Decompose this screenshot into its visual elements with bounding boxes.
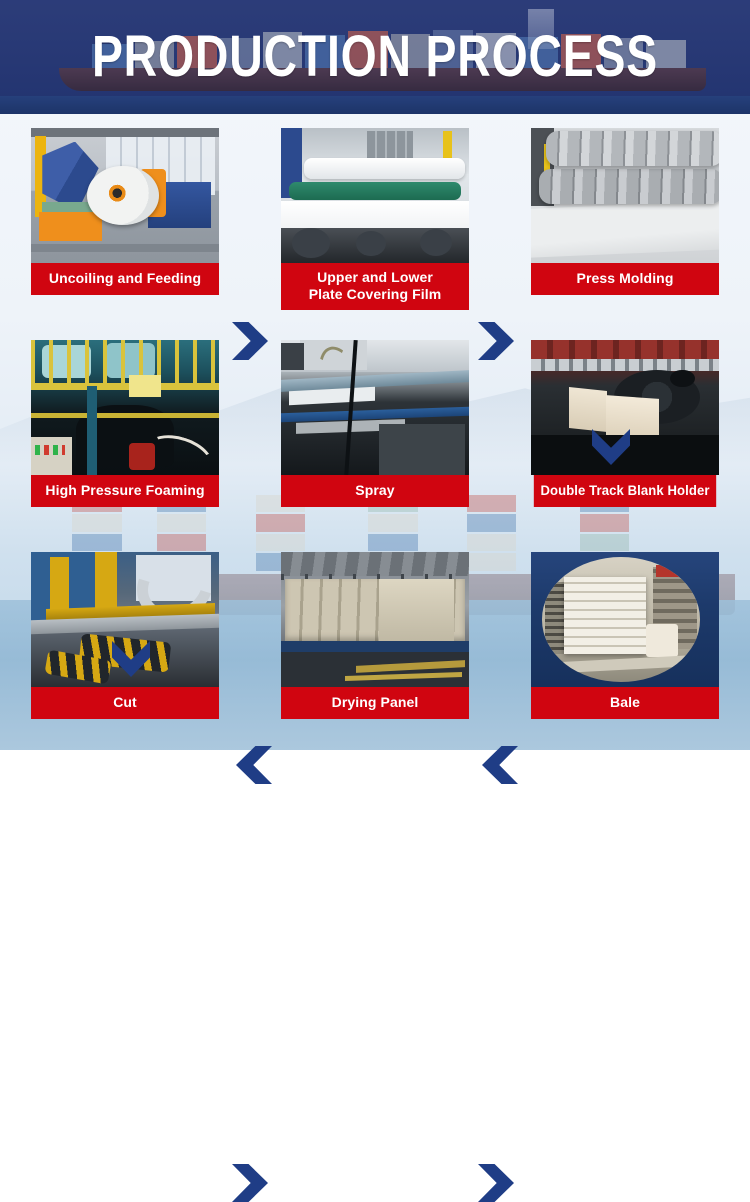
press-molding-photo: [531, 128, 719, 263]
spray-photo: [281, 340, 469, 475]
step-card-high-pressure-foaming[interactable]: High Pressure Foaming: [31, 340, 219, 507]
step-label: Press Molding: [531, 263, 719, 295]
step-card-uncoiling-and-feeding[interactable]: Uncoiling and Feeding: [31, 128, 219, 295]
flow-cell: Drying Panel: [250, 552, 500, 719]
flow-cell: Cut: [0, 552, 250, 719]
step-label: Cut: [31, 687, 219, 719]
step-label: High Pressure Foaming: [31, 475, 219, 507]
uncoiling-and-feeding-photo: [31, 128, 219, 263]
step-label: Drying Panel: [281, 687, 469, 719]
arrow-right-icon: [478, 1164, 514, 1202]
page-title: PRODUCTION PROCESS: [75, 0, 675, 114]
step-card-press-molding[interactable]: Press Molding: [531, 128, 719, 295]
arrow-right-icon: [232, 1164, 268, 1202]
flow-row-2: High Pressure Foaming Spray: [0, 340, 750, 552]
step-card-drying-panel[interactable]: Drying Panel: [281, 552, 469, 719]
flow-cell: Spray: [250, 340, 500, 507]
upper-and-lower-plate-covering-film-photo: [281, 128, 469, 263]
high-pressure-foaming-photo: [31, 340, 219, 475]
flow-row-1: Uncoiling and Feeding Upper and Lower Pl…: [0, 128, 750, 340]
step-label: Uncoiling and Feeding: [31, 263, 219, 295]
step-card-cut[interactable]: Cut: [31, 552, 219, 719]
double-track-blank-holder-photo: [531, 340, 719, 475]
step-card-bale[interactable]: Bale: [531, 552, 719, 719]
step-label-line1: Upper and Lower: [317, 269, 433, 285]
step-card-double-track-blank-holder[interactable]: Double Track Blank Holder: [531, 340, 719, 507]
flow-cell: Uncoiling and Feeding: [0, 128, 250, 295]
bale-photo: [531, 552, 719, 687]
step-label: Bale: [531, 687, 719, 719]
step-label: Double Track Blank Holder: [534, 475, 716, 507]
step-card-upper-and-lower-plate-covering-film[interactable]: Upper and Lower Plate Covering Film: [281, 128, 469, 310]
flow-cell: Double Track Blank Holder: [500, 340, 750, 507]
step-card-spray[interactable]: Spray: [281, 340, 469, 507]
flow-cell: High Pressure Foaming: [0, 340, 250, 507]
flow-cell: Bale: [500, 552, 750, 719]
flow-cell: Press Molding: [500, 128, 750, 295]
drying-panel-photo: [281, 552, 469, 687]
step-label: Spray: [281, 475, 469, 507]
production-process-flow: Uncoiling and Feeding Upper and Lower Pl…: [0, 114, 750, 750]
step-label-line2: Plate Covering Film: [309, 286, 442, 302]
step-label: Upper and Lower Plate Covering Film: [281, 263, 469, 310]
flow-cell: Upper and Lower Plate Covering Film: [250, 128, 500, 310]
